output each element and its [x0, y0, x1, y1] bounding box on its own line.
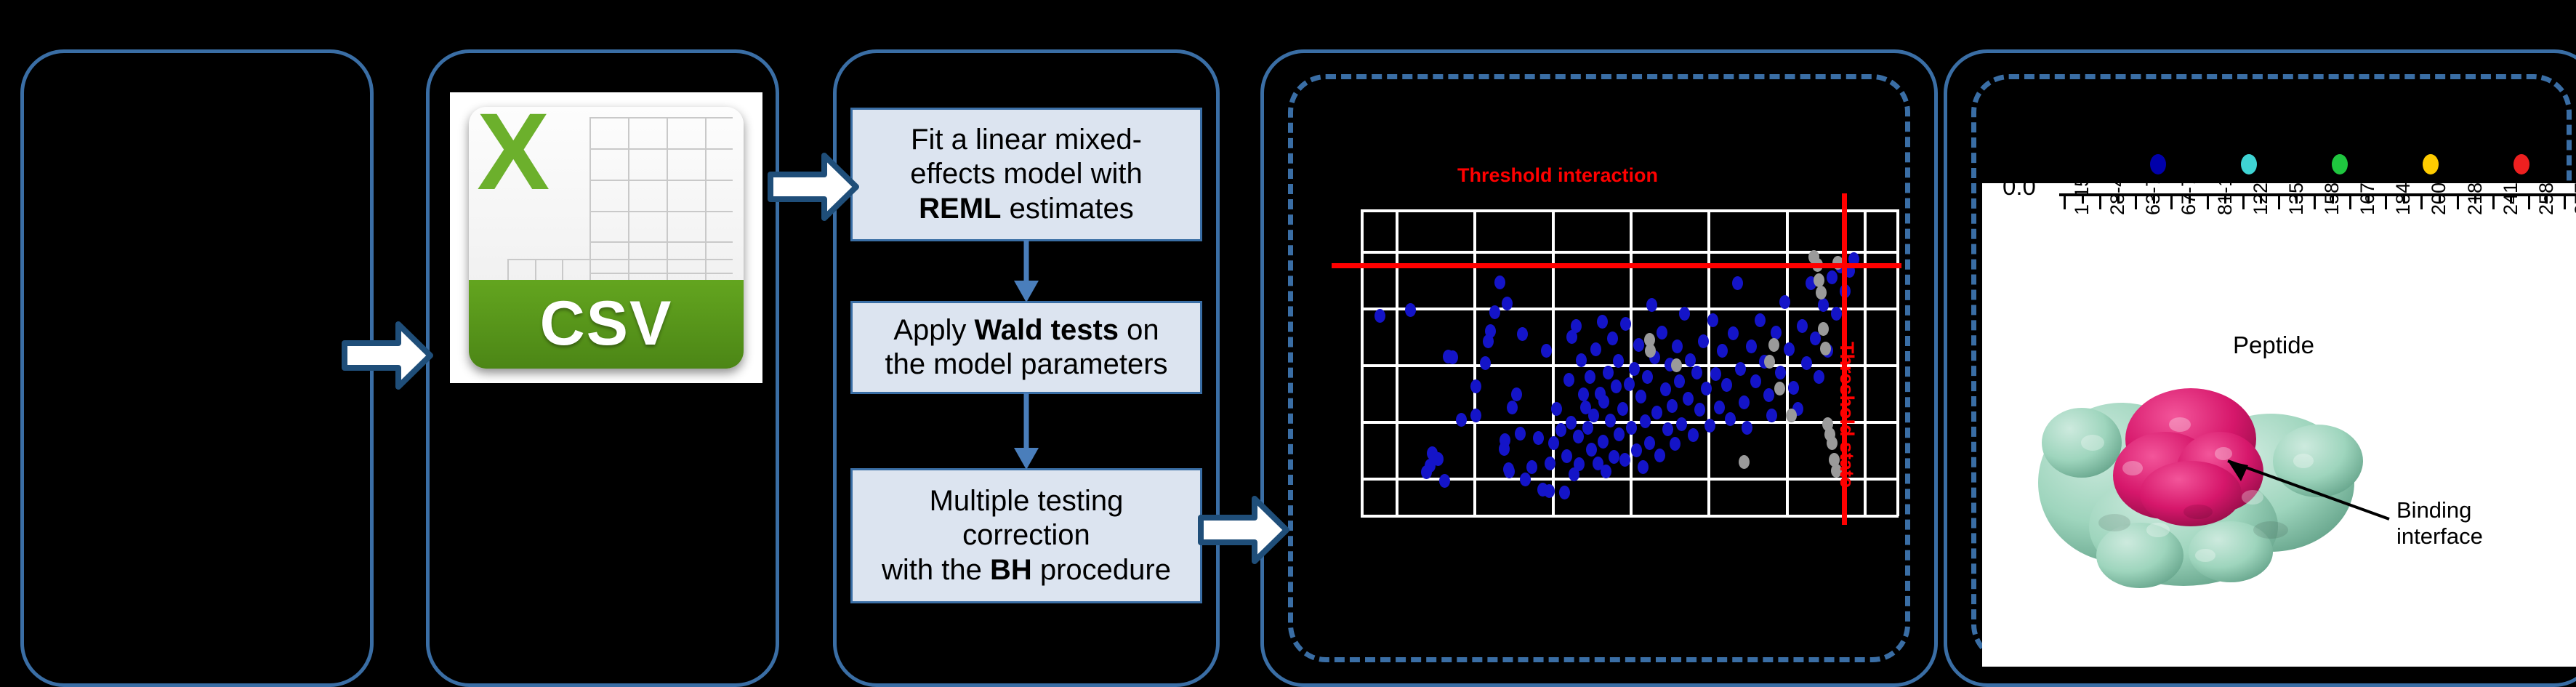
- scatter-point: [1485, 324, 1496, 338]
- arrow-right-to-csv: [342, 320, 433, 391]
- scatter-point: [1541, 344, 1552, 358]
- scatter-point: [1614, 427, 1625, 441]
- scatter-point: [1489, 305, 1500, 319]
- scatter-point: [1571, 319, 1582, 333]
- scatter-point: [1517, 327, 1528, 341]
- scatter-point: [1739, 455, 1750, 469]
- reml-line2: effects model with: [910, 158, 1142, 190]
- scatter-point: [1480, 356, 1491, 370]
- binding-label-line2: interface: [2396, 523, 2483, 549]
- peptide-tick-label: 241-257: [2500, 183, 2522, 215]
- step-box-reml-text: Fit a linear mixed- effects model with R…: [910, 123, 1142, 226]
- scatter-point: [1631, 443, 1642, 457]
- scatter-point: [1515, 427, 1526, 441]
- scatter-point: [1797, 319, 1808, 333]
- scatter-point: [1443, 350, 1454, 363]
- axis-tick: [2064, 195, 2066, 209]
- scatter-point: [1598, 435, 1609, 449]
- peptide-tick-label: 1-15: [2071, 183, 2093, 215]
- scatter-point: [1617, 402, 1628, 416]
- scatter-point: [1624, 377, 1635, 391]
- step-box-bh-text: Multiple testing correction with the BH …: [882, 484, 1171, 587]
- scatter-point: [1585, 370, 1595, 384]
- bh-bold: BH: [990, 554, 1032, 586]
- scatter-point: [1601, 465, 1611, 478]
- scatter-point: [1520, 473, 1531, 486]
- axis-tick: [2457, 195, 2459, 209]
- step-box-reml[interactable]: Fit a linear mixed- effects model with R…: [850, 108, 1202, 241]
- scatter-point: [1433, 452, 1444, 466]
- scatter-point: [1470, 379, 1481, 393]
- scatter-point: [1685, 353, 1696, 367]
- axis-tick: [2170, 195, 2173, 209]
- scatter-point: [1646, 298, 1657, 312]
- csv-excel-x-mark: X: [477, 107, 592, 243]
- scatter-point: [1775, 366, 1786, 379]
- scatter-point: [1662, 422, 1673, 436]
- axis-tick: [2385, 195, 2387, 209]
- scatter-point: [1638, 460, 1649, 474]
- bh-post: procedure: [1032, 554, 1171, 586]
- scatter-point: [1548, 436, 1559, 450]
- axis-tick: [2528, 195, 2530, 209]
- peptide-tick-label: 218-237: [2464, 183, 2487, 215]
- csv-label-band: CSV: [469, 280, 744, 369]
- scatter-point: [1640, 414, 1651, 428]
- threshold-interaction-label: Threshold interaction: [1457, 164, 1658, 187]
- step-box-wald[interactable]: Apply Wald tests on the model parameters: [850, 301, 1202, 394]
- scatter-point: [1788, 381, 1799, 395]
- peptide-tick-label: 200-214: [2428, 183, 2450, 215]
- scatter-point: [1672, 340, 1683, 353]
- scatter-point: [1633, 338, 1644, 352]
- legend-dot: [2332, 154, 2348, 174]
- axis-tick: [2349, 195, 2351, 209]
- scatter-point: [1670, 437, 1681, 451]
- legend-dot: [2513, 154, 2529, 174]
- scatter-point: [1704, 419, 1715, 433]
- scatter-point: [1566, 416, 1577, 430]
- scatter-point: [1502, 297, 1513, 310]
- scatter-point: [1619, 453, 1630, 467]
- scatter-point: [1784, 342, 1795, 356]
- scatter-point: [1660, 382, 1671, 396]
- peptide-tick-label: 122-129: [2250, 183, 2272, 215]
- threshold-scatter-plot: [1361, 209, 1899, 516]
- peptide-tick-label: 28-44: [2106, 183, 2129, 215]
- step-box-wald-text: Apply Wald tests on the model parameters: [885, 313, 1167, 382]
- scatter-point: [1698, 334, 1709, 348]
- scatter-point: [1374, 309, 1385, 323]
- scatter-point: [1827, 270, 1838, 284]
- scatter-point: [1588, 409, 1599, 422]
- scatter-point: [1801, 356, 1812, 370]
- scatter-point: [1671, 358, 1682, 372]
- scatter-point: [1590, 342, 1601, 356]
- wald-post: on: [1119, 314, 1159, 346]
- axis-tick: [2207, 195, 2209, 209]
- arrow-down-to-bh: [1009, 393, 1044, 471]
- binding-label-line1: Binding: [2396, 497, 2471, 523]
- bh-pre: with the: [882, 554, 990, 586]
- scatter-point: [1586, 443, 1597, 457]
- scatter-point: [1609, 450, 1619, 464]
- scatter-point: [1644, 436, 1655, 450]
- panel-csv-data: X CSV: [426, 49, 779, 687]
- binding-interface-arrow: [2200, 452, 2404, 539]
- scatter-point: [1707, 313, 1718, 327]
- threshold-state-label: Threshold state: [1835, 342, 1858, 488]
- scatter-point: [1597, 315, 1608, 329]
- scatter-point: [1504, 465, 1515, 478]
- csv-icon-body: X CSV: [469, 107, 744, 369]
- scatter-point: [1721, 378, 1732, 392]
- wald-line2: the model parameters: [885, 348, 1167, 380]
- peptide-tick-label: 158-166: [2321, 183, 2343, 215]
- peptide-tick-label: 167-180: [2356, 183, 2379, 215]
- scatter-point: [1768, 338, 1779, 352]
- scatter-point: [1642, 370, 1653, 384]
- scatter-point: [1739, 395, 1750, 409]
- legend-dot: [2241, 154, 2257, 174]
- scatter-point: [1439, 474, 1450, 488]
- scatter-point: [1500, 433, 1510, 447]
- reml-bold: REML: [919, 193, 1001, 225]
- scatter-point: [1742, 421, 1752, 435]
- panel-input-empty: [20, 49, 374, 687]
- scatter-point: [1701, 382, 1712, 395]
- peptide-axis-title: Peptide: [2233, 332, 2314, 359]
- scatter-point: [1746, 340, 1757, 353]
- scatter-point: [1559, 486, 1570, 499]
- wald-bold: Wald tests: [975, 314, 1119, 346]
- arrow-down-to-wald: [1009, 240, 1044, 304]
- step-box-bh[interactable]: Multiple testing correction with the BH …: [850, 468, 1202, 603]
- scatter-point: [1613, 354, 1624, 368]
- peptide-tick-label: 184-199: [2392, 183, 2415, 215]
- scatter-point: [1774, 382, 1785, 395]
- axis-tick: [2492, 195, 2495, 209]
- scatter-point: [1755, 313, 1766, 327]
- axis-tick: [2099, 195, 2101, 209]
- scatter-point: [1725, 412, 1736, 426]
- scatter-point: [1714, 401, 1725, 414]
- scatter-point: [1620, 317, 1631, 331]
- axis-tick: [2278, 195, 2280, 209]
- scatter-point: [1511, 387, 1522, 401]
- axis-tick: [2564, 195, 2566, 209]
- legend-dot: [2423, 154, 2439, 174]
- y-axis-value-label: 0.0: [2003, 183, 2036, 201]
- scatter-point: [1651, 406, 1662, 419]
- scatter-point: [1470, 409, 1481, 422]
- binding-interface-label: Binding interface: [2396, 497, 2483, 549]
- arrow-right-to-results: [1198, 494, 1289, 566]
- reml-line1: Fit a linear mixed-: [911, 124, 1142, 156]
- scatter-point: [1691, 366, 1702, 379]
- scatter-point: [1786, 409, 1797, 422]
- csv-label: CSV: [540, 288, 673, 360]
- scatter-point: [1561, 449, 1572, 463]
- scatter-point: [1626, 421, 1637, 435]
- scatter-point: [1667, 399, 1678, 413]
- bh-line2: correction: [962, 519, 1090, 551]
- axis-tick: [2135, 195, 2137, 209]
- scatter-point: [1611, 379, 1622, 393]
- peptide-tick-label: 63-73: [2142, 183, 2165, 215]
- axis-tick: [2314, 195, 2316, 209]
- scatter-point: [1779, 295, 1790, 309]
- axis-tick: [2242, 195, 2245, 209]
- peptide-tick-label: 277-284: [2571, 183, 2576, 215]
- scatter-point: [1728, 326, 1739, 340]
- axis-tick: [2420, 195, 2423, 209]
- wald-pre: Apply: [893, 314, 974, 346]
- csv-file-icon[interactable]: X CSV: [450, 92, 762, 383]
- scatter-point: [1507, 401, 1518, 414]
- arrow-right-to-model: [768, 151, 859, 222]
- bh-line1: Multiple testing: [930, 485, 1124, 517]
- peptide-tick-label: 67-75: [2178, 183, 2200, 215]
- reml-tail: estimates: [1002, 193, 1134, 225]
- legend-dot: [2150, 154, 2166, 174]
- peptide-figure-card: 1-1528-4463-7367-7581-101122-129135-1441…: [1982, 183, 2576, 667]
- threshold-interaction-line: [1332, 263, 1901, 268]
- peptide-tick-label: 135-144: [2285, 183, 2308, 215]
- scatter-point: [1683, 392, 1694, 406]
- peptide-tick-label: 258-266: [2535, 183, 2558, 215]
- peptide-tick-label: 81-101: [2214, 183, 2237, 215]
